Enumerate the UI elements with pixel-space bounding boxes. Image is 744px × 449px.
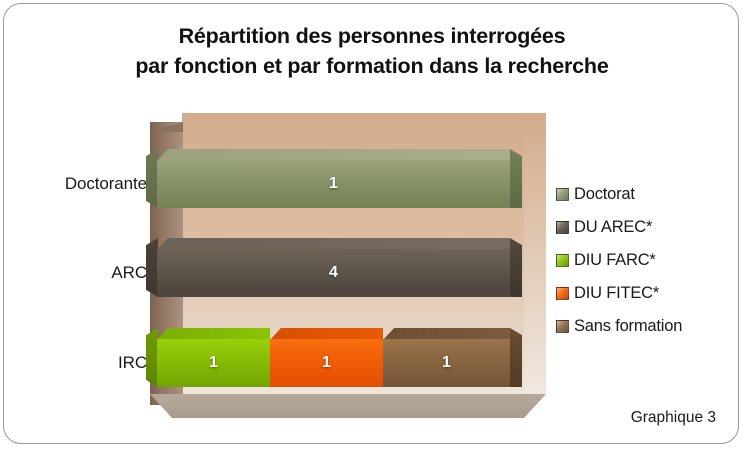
bar-doctorante[interactable]: 1 bbox=[157, 149, 510, 197]
legend-item-du-arec[interactable]: DU AREC* bbox=[556, 211, 736, 244]
legend-label-doctorat: Doctorat bbox=[574, 185, 635, 204]
category-label-arc: ARC bbox=[12, 263, 147, 283]
category-label-irc: IRC bbox=[12, 353, 147, 373]
legend-swatch-du-arec bbox=[556, 221, 569, 234]
chart-caption: Graphique 3 bbox=[631, 409, 716, 427]
category-label-doctorante: Doctorante bbox=[12, 174, 147, 194]
chart-title-line-2: par fonction et par formation dans la re… bbox=[60, 52, 684, 82]
legend-item-sans-formation[interactable]: Sans formation bbox=[556, 310, 736, 343]
bar-irc[interactable]: 1 1 1 bbox=[157, 328, 510, 376]
legend-label-diu-fitec: DIU FITEC* bbox=[574, 284, 659, 303]
chart-image: Répartition des personnes interrogées pa… bbox=[0, 0, 744, 449]
legend-item-doctorat[interactable]: Doctorat bbox=[556, 178, 736, 211]
bar-value-irc-sans-formation: 1 bbox=[383, 339, 510, 387]
bar-value-doctorante-doctorat: 1 bbox=[157, 160, 510, 208]
bar-doctorante-right-face bbox=[510, 149, 522, 208]
legend-swatch-diu-fitec bbox=[556, 287, 569, 300]
legend-label-diu-farc: DIU FARC* bbox=[574, 251, 656, 270]
bar-value-irc-diu-fitec: 1 bbox=[270, 339, 383, 387]
legend-swatch-diu-farc bbox=[556, 254, 569, 267]
bar-irc-right-face bbox=[510, 328, 522, 387]
chart-legend: Doctorat DU AREC* DIU FARC* DIU FITEC* S… bbox=[556, 178, 736, 343]
bar-arc-right-face bbox=[510, 238, 522, 297]
plot-floor bbox=[150, 394, 546, 418]
plot-right-margin bbox=[524, 113, 546, 395]
plot-side-wall-bevel bbox=[150, 122, 183, 132]
bar-value-arc-du-arec: 4 bbox=[157, 249, 510, 297]
legend-swatch-sans-formation bbox=[556, 320, 569, 333]
chart-title-line-1: Répartition des personnes interrogées bbox=[60, 22, 684, 52]
legend-item-diu-fitec[interactable]: DIU FITEC* bbox=[556, 277, 736, 310]
plot-area: 1 4 1 1 1 bbox=[150, 113, 546, 416]
legend-swatch-doctorat bbox=[556, 188, 569, 201]
legend-label-sans-formation: Sans formation bbox=[574, 317, 682, 336]
category-axis: Doctorante ARC IRC bbox=[5, 0, 147, 449]
chart-title: Répartition des personnes interrogées pa… bbox=[60, 22, 684, 81]
bar-value-irc-diu-farc: 1 bbox=[157, 339, 270, 387]
bar-arc[interactable]: 4 bbox=[157, 238, 510, 286]
legend-item-diu-farc[interactable]: DIU FARC* bbox=[556, 244, 736, 277]
legend-label-du-arec: DU AREC* bbox=[574, 218, 652, 237]
